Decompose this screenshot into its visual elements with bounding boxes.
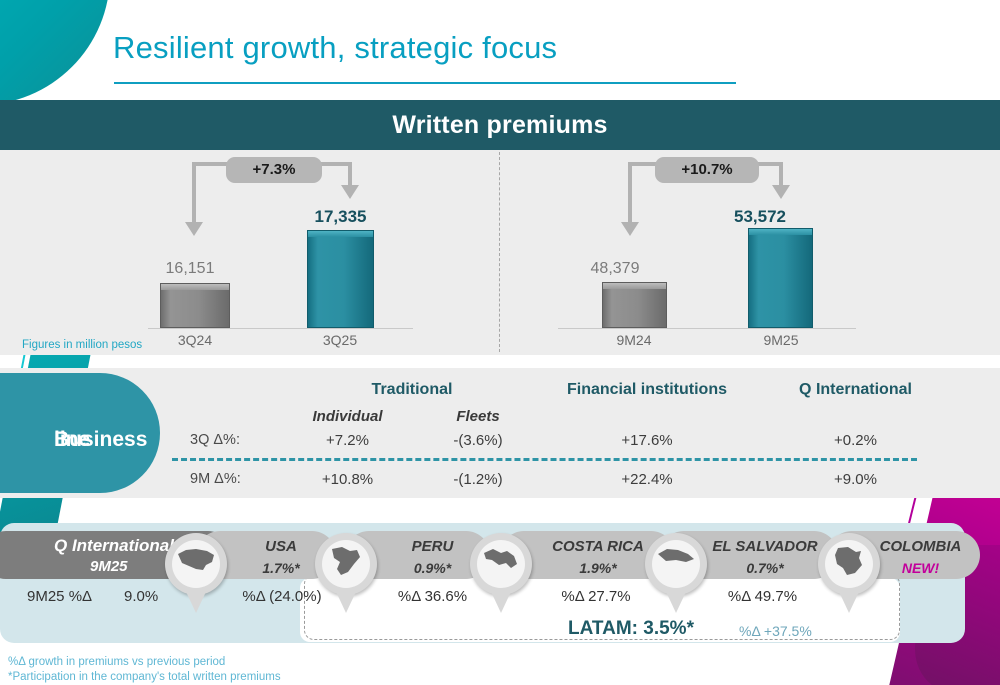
sub-header-fleets: Fleets	[423, 408, 533, 425]
bar-9m25	[748, 228, 813, 328]
row-label-9m: 9M Δ%:	[190, 471, 241, 487]
cell-3q-individual: +7.2%	[285, 432, 410, 449]
chart-axis-quarter	[148, 328, 413, 329]
bar-value-3q24: 16,151	[150, 260, 230, 278]
bar-category-9m25: 9M25	[741, 332, 821, 348]
delta-badge-nine-months: +10.7%	[655, 157, 759, 183]
chart-nine-months: +10.7% 48,379 9M24 53,572 9M25	[500, 0, 1000, 205]
cell-3q-q-international: +0.2%	[758, 432, 953, 449]
figures-note: Figures in million pesos	[22, 339, 142, 351]
q-international-delta-value: 9.0%	[124, 588, 158, 605]
latam-total-label: LATAM: 3.5%*	[568, 618, 694, 640]
bar-value-9m25: 53,572	[715, 207, 805, 227]
bar-category-9m24: 9M24	[594, 332, 674, 348]
cell-9m-q-international: +9.0%	[758, 471, 953, 488]
chart-axis-nine-months	[558, 328, 856, 329]
cell-3q-financial: +17.6%	[527, 432, 767, 449]
colombia-map-icon	[818, 533, 880, 613]
group-header-q-international: Q International	[758, 381, 953, 399]
business-line-tab: Business line	[0, 373, 160, 493]
costa-rica-map-icon	[470, 533, 532, 613]
peru-map-icon	[315, 533, 377, 613]
chart-quarter: +7.3% 16,151 3Q24 17,335 3Q25	[0, 0, 500, 205]
latam-total-delta: %Δ +37.5%	[739, 623, 812, 639]
footnote-line-1: %Δ growth in premiums vs previous period	[8, 655, 281, 670]
el-salvador-map-icon	[645, 533, 707, 613]
bar-category-3q25: 3Q25	[300, 332, 380, 348]
bar-value-3q25: 17,335	[298, 207, 383, 227]
group-header-traditional: Traditional	[292, 381, 532, 399]
sub-header-individual: Individual	[285, 408, 410, 425]
cell-9m-financial: +22.4%	[527, 471, 767, 488]
bar-9m24	[602, 282, 667, 328]
footnote-line-2: *Participation in the company's total wr…	[8, 670, 281, 685]
cell-9m-fleets: -(1.2%)	[423, 471, 533, 488]
usa-map-icon	[165, 533, 227, 613]
q-international-delta-label: 9M25 %Δ	[27, 588, 92, 605]
q-international-title: Q International	[54, 536, 174, 556]
cell-9m-individual: +10.8%	[285, 471, 410, 488]
bar-category-3q24: 3Q24	[155, 332, 235, 348]
group-header-financial-institutions: Financial institutions	[527, 381, 767, 399]
business-line-tab-line2: line	[54, 427, 90, 453]
bar-value-9m24: 48,379	[570, 260, 660, 278]
footnotes: %Δ growth in premiums vs previous period…	[8, 655, 281, 685]
bar-3q24	[160, 283, 230, 328]
cell-3q-fleets: -(3.6%)	[423, 432, 533, 449]
business-line-divider	[172, 458, 917, 461]
bar-3q25	[307, 230, 374, 328]
slide-root: Resilient growth, strategic focus Writte…	[0, 0, 1000, 685]
delta-badge-quarter: +7.3%	[226, 157, 322, 183]
row-label-3q: 3Q Δ%:	[190, 432, 240, 448]
country-delta-el-salvador: %Δ 49.7%	[690, 588, 835, 605]
q-international-period: 9M25	[90, 558, 128, 575]
